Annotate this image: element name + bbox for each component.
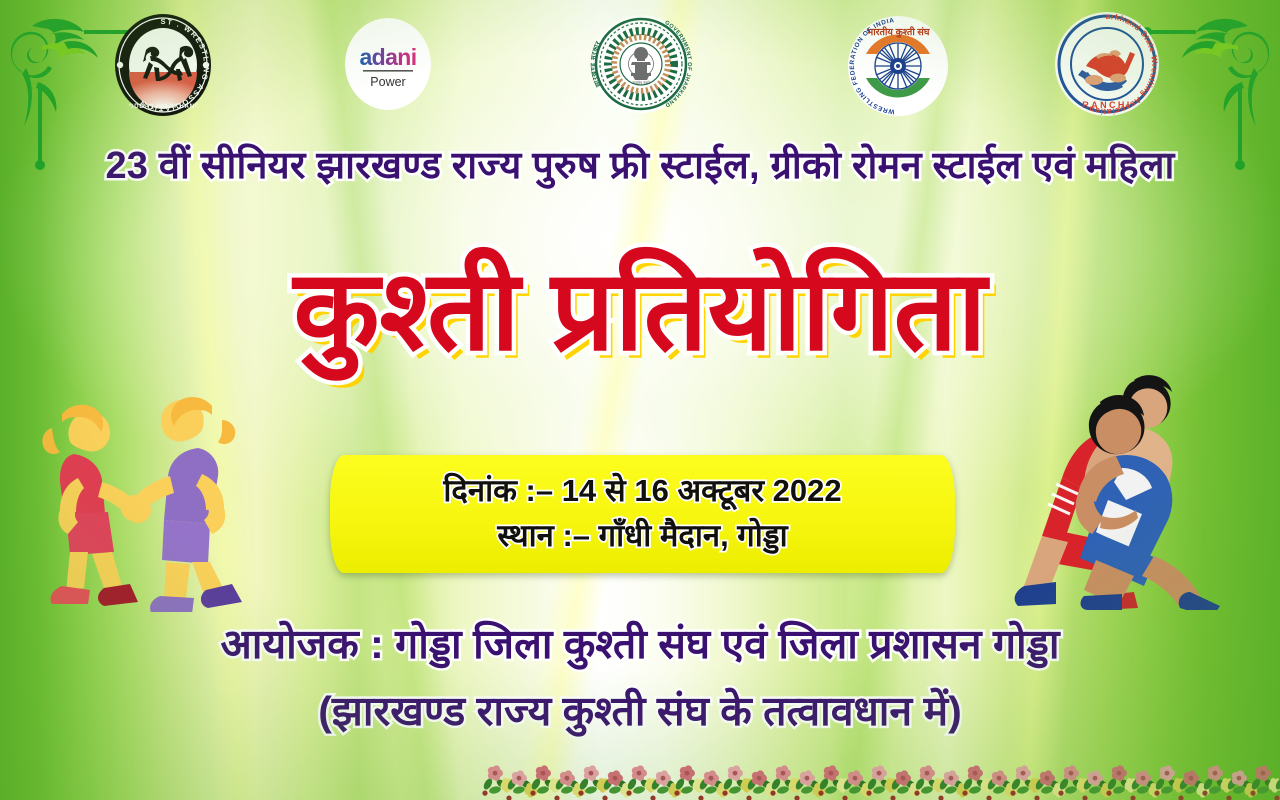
svg-text:सत्यमेव जयते: सत्यमेव जयते [632,80,650,85]
poster-canvas: DIST . WRESTLING ASSOCIATION GODDA (JHAR… [0,0,1280,800]
event-venue: स्थान :– गाँधी मैदान, गोड्डा [497,514,787,559]
adani-wordmark: adani [359,44,416,70]
organiser-line-2: (झारखण्ड राज्य कुश्ती संघ के तत्वावधान म… [0,682,1280,738]
logo-adani-power: adani Power [345,18,431,110]
logo1-bottom-text: GODDA (JHARKHAND) [123,104,202,110]
event-subtitle: 23 वीं सीनियर झारखण्ड राज्य पुरुष फ्री स… [0,138,1280,190]
logo-jharkhand-state-wrestling-association: Jharkhand State Wrestling Association RA… [1052,8,1162,120]
organiser-line-1: आयोजक : गोड्डा जिला कुश्ती संघ एवं जिला … [0,615,1280,671]
logo5-bottom-text: RANCHI [1082,100,1131,110]
main-title: कुश्ती प्रतियोगिता [0,245,1280,377]
floral-border [0,740,1280,800]
logo-wrestling-federation-of-india: भारतीय कुश्ती संघ WRESTLING FEDERATION O… [846,14,950,118]
logo-government-of-jharkhand: सत्यमेव जयते झारखण्ड सरकार GOVERNMENT OF… [588,10,694,118]
event-details-box: दिनांक :– 14 से 16 अक्टूबर 2022 स्थान :–… [330,455,955,573]
logo-district-wrestling-association: DIST . WRESTLING ASSOCIATION GODDA (JHAR… [110,12,216,118]
female-wrestlers-illustration [26,382,276,612]
adani-subtext: Power [370,75,405,89]
male-wrestlers-illustration [1004,360,1276,610]
event-date: दिनांक :– 14 से 16 अक्टूबर 2022 [443,469,841,514]
